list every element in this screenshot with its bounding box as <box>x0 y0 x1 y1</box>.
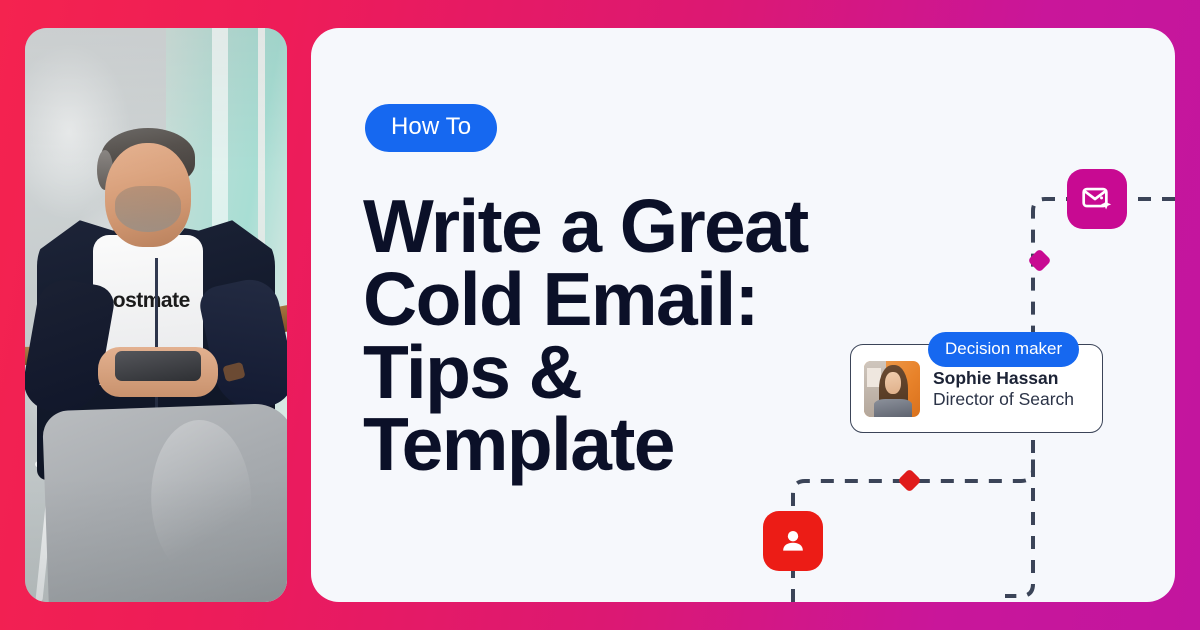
photo-illustration: ostmate <box>25 28 287 602</box>
contact-role: Director of Search <box>933 389 1074 410</box>
photo-vignette <box>25 28 287 602</box>
hero-photo: ostmate <box>25 28 287 602</box>
contact-node[interactable] <box>763 511 823 571</box>
avatar <box>864 361 920 417</box>
email-node[interactable] <box>1067 169 1127 229</box>
person-icon <box>777 525 809 557</box>
contact-name: Sophie Hassan <box>933 368 1074 389</box>
page-title: Write a Great Cold Email: Tips & Templat… <box>363 190 983 481</box>
social-card: ostmate How To Write a Great Cold Email:… <box>0 0 1200 630</box>
content-card: How To Write a Great Cold Email: Tips & … <box>311 28 1175 602</box>
envelope-sparkle-icon <box>1080 182 1114 216</box>
headline-line-1: Write a Great <box>363 190 983 263</box>
magenta-path-dot <box>1027 248 1051 272</box>
connector-bottom-right <box>1005 440 1033 596</box>
category-tag[interactable]: How To <box>365 104 497 152</box>
contact-details: Sophie Hassan Director of Search <box>933 368 1074 409</box>
headline-line-2: Cold Email: <box>363 263 983 336</box>
status-badge[interactable]: Decision maker <box>928 332 1079 367</box>
